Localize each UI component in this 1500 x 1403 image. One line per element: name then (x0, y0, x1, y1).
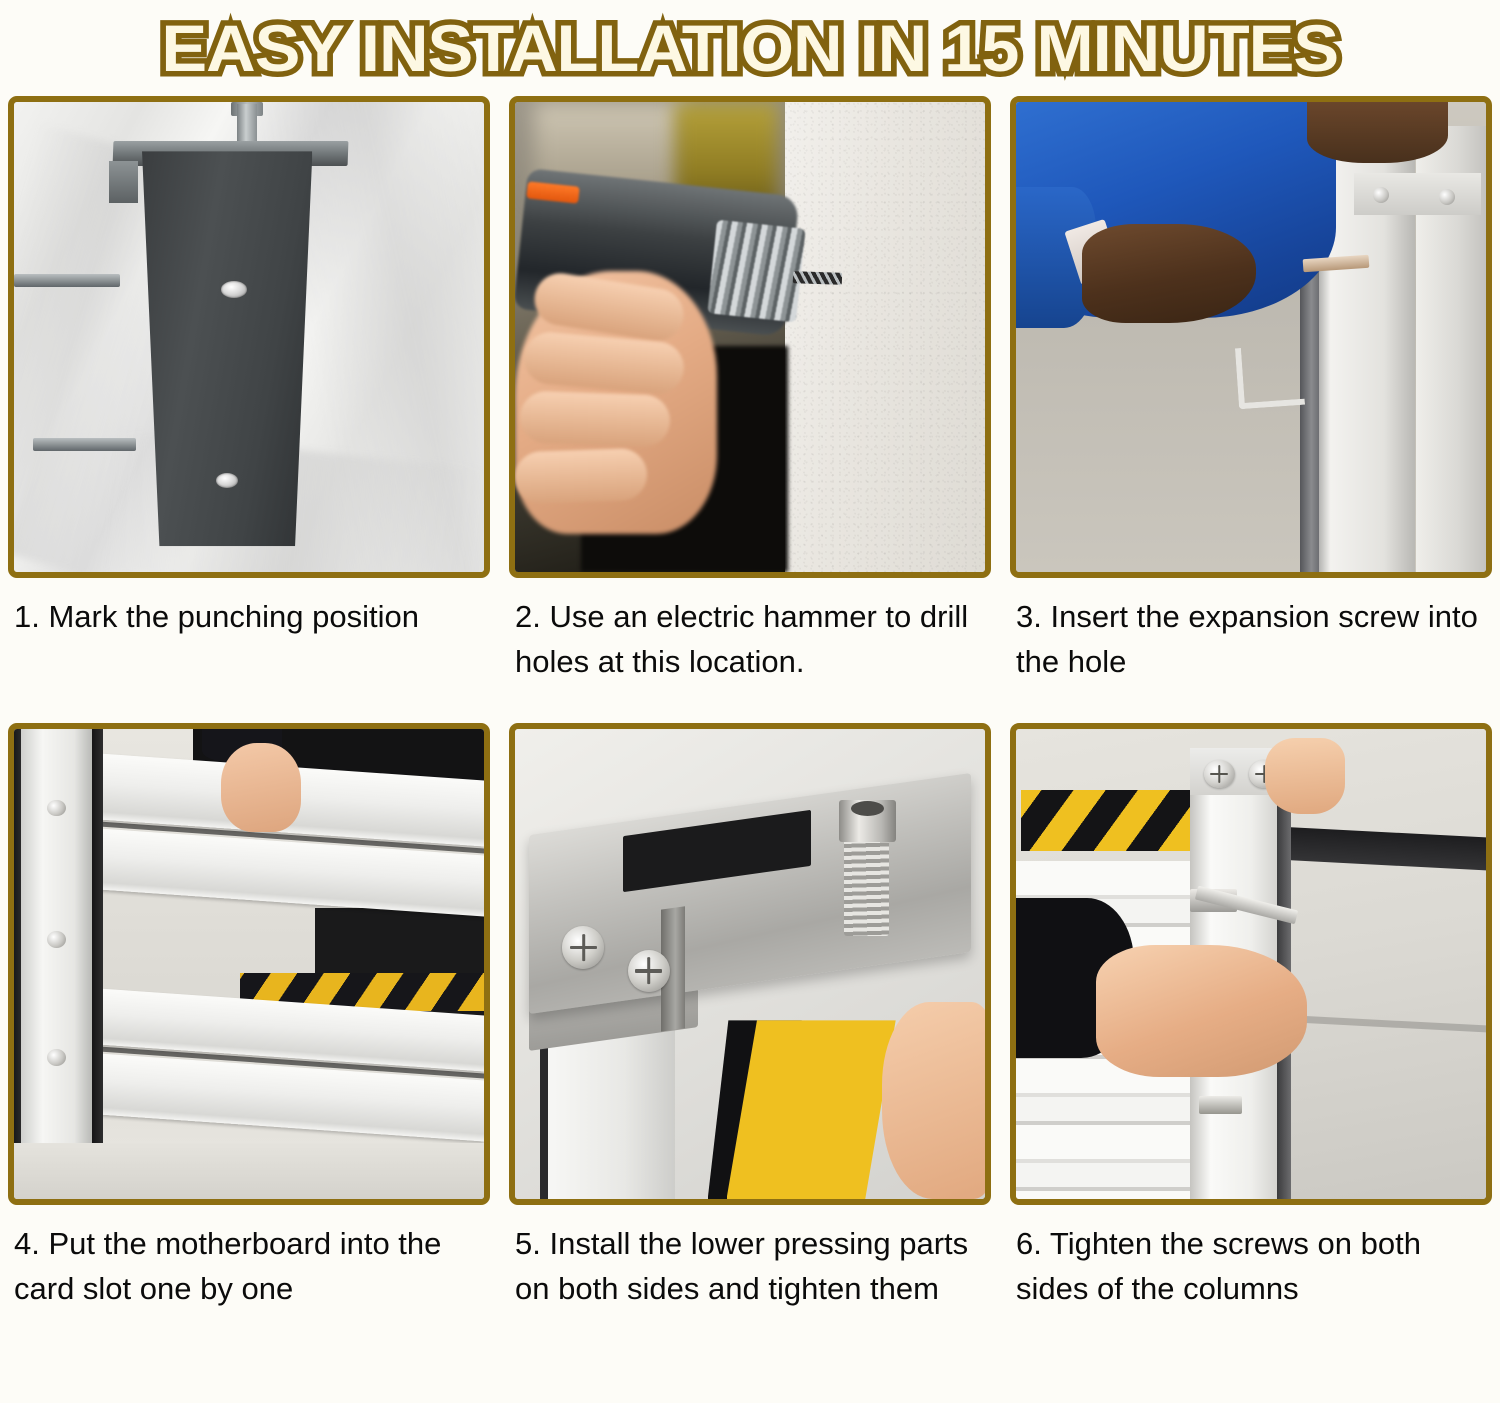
step-card-5: 5. Install the lower pressing parts on b… (509, 723, 991, 1355)
installation-steps-grid: 1. Mark the punching position 2. Use an … (0, 96, 1500, 1355)
post-card-slot (92, 729, 103, 1143)
hand-holding-part (882, 1002, 991, 1199)
step-photo-2 (509, 96, 991, 578)
post-screw (47, 931, 66, 948)
worker-forearm (1082, 224, 1256, 323)
bracket-screw (628, 950, 670, 992)
mounting-screw (1373, 187, 1389, 203)
allen-key-on-floor (1235, 344, 1305, 410)
punch-mark-upper (221, 281, 247, 298)
lower-bolt (1199, 1096, 1241, 1115)
step-caption-2: 2. Use an electric hammer to drill holes… (509, 578, 991, 723)
step-photo-1 (8, 96, 490, 578)
hand-tightening-screw (1096, 945, 1308, 1077)
post-screw (47, 1049, 66, 1066)
step-card-3: 3. Insert the expansion screw into the h… (1010, 96, 1492, 723)
drill-chuck (708, 220, 807, 323)
step-caption-3: 3. Insert the expansion screw into the h… (1010, 578, 1492, 723)
finger (519, 391, 671, 448)
page-title: EASY INSTALLATION IN 15 MINUTES (162, 13, 1339, 83)
step-card-2: 2. Use an electric hammer to drill holes… (509, 96, 991, 723)
step-caption-4: 4. Put the motherboard into the card slo… (8, 1205, 490, 1355)
title-bar: EASY INSTALLATION IN 15 MINUTES (0, 0, 1500, 96)
mounting-screw (1439, 189, 1455, 205)
step-card-6: 6. Tighten the screws on both sides of t… (1010, 723, 1492, 1355)
drill-bit (793, 271, 843, 285)
expansion-bolt-lower (33, 438, 136, 451)
bolt-hex-hole (851, 801, 884, 816)
column-side-bracket (109, 161, 137, 203)
step-card-4: 4. Put the motherboard into the card slo… (8, 723, 490, 1355)
hand-placing-board (221, 743, 301, 832)
top-screw-left (1204, 760, 1235, 788)
step-photo-5 (509, 723, 991, 1205)
bracket-screw (562, 926, 604, 968)
step-card-1: 1. Mark the punching position (8, 96, 490, 723)
threaded-bolt-shaft (844, 832, 889, 935)
worker-upper-hand (1307, 102, 1448, 163)
white-wall (785, 102, 985, 572)
step-caption-1: 1. Mark the punching position (8, 578, 490, 723)
step-photo-4 (8, 723, 490, 1205)
step-photo-6 (1010, 723, 1492, 1205)
post-screw (47, 800, 66, 817)
hazard-stripe (1021, 790, 1190, 851)
finger (514, 448, 647, 504)
expansion-bolt-upper (14, 274, 120, 288)
step-photo-3 (1010, 96, 1492, 578)
floor (14, 1143, 484, 1199)
supporting-hand (1265, 738, 1345, 813)
step-caption-6: 6. Tighten the screws on both sides of t… (1010, 1205, 1492, 1355)
step-caption-5: 5. Install the lower pressing parts on b… (509, 1205, 991, 1355)
